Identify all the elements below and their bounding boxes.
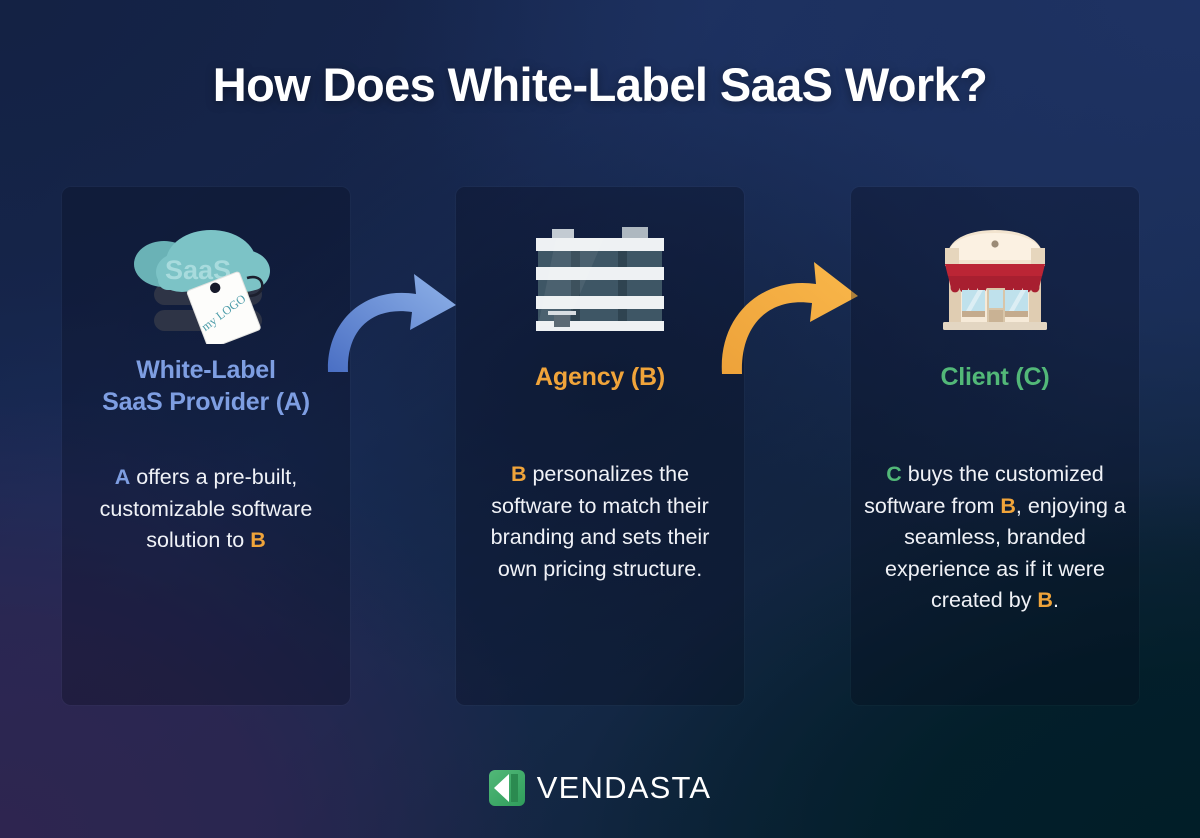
storefront-shop-icon (851, 215, 1139, 345)
marker-c: C (886, 462, 902, 486)
card-provider-body: A offers a pre-built, customizable softw… (84, 462, 328, 557)
vendasta-logo: VENDASTA (0, 770, 1200, 806)
card-provider-heading: White-Label SaaS Provider (A) (62, 355, 350, 419)
card-client-heading: Client (C) (851, 362, 1139, 394)
card-client-body-text-3: . (1053, 588, 1059, 612)
card-agency-heading-line1: Agency (B) (535, 363, 665, 391)
card-agency-body: B personalizes the software to match the… (478, 459, 722, 585)
office-building-icon (456, 215, 744, 345)
card-client-body: C buys the customized software from B, e… (863, 459, 1127, 617)
arrow-agency-to-client (712, 256, 860, 379)
marker-b: B (250, 528, 266, 552)
card-agency-heading: Agency (B) (456, 362, 744, 394)
marker-b: B (1037, 588, 1053, 612)
vendasta-logo-text: VENDASTA (537, 770, 711, 806)
cloud-server-label-tag-icon: SaaS my LOGO (62, 215, 350, 345)
card-client-heading-line1: Client (C) (940, 363, 1049, 391)
vendasta-logo-mark (489, 770, 525, 806)
page-title: How Does White-Label SaaS Work? (0, 57, 1200, 112)
card-provider: SaaS my LOGO White-Label SaaS Provider (… (62, 187, 350, 705)
card-provider-body-text: offers a pre-built, customizable softwar… (100, 465, 313, 552)
card-agency: Agency (B) B personalizes the software t… (456, 187, 744, 705)
arrow-provider-to-agency (318, 268, 458, 377)
marker-b: B (511, 462, 527, 486)
marker-a: A (115, 465, 131, 489)
marker-b: B (1000, 494, 1016, 518)
card-provider-heading-line1: White-Label (136, 356, 275, 384)
card-client: Client (C) C buys the customized softwar… (851, 187, 1139, 705)
card-provider-heading-line2: SaaS Provider (A) (102, 388, 310, 416)
